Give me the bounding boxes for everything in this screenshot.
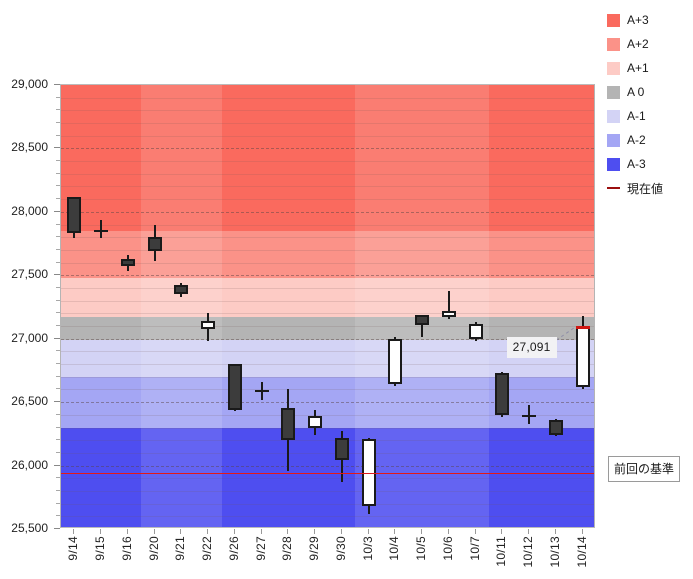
y-axis-tick-label: 29,000: [11, 77, 48, 91]
major-gridline: [61, 148, 594, 149]
x-axis-tick-mark: [261, 529, 262, 534]
legend-swatch-icon: [607, 86, 620, 99]
x-axis-tick-mark: [555, 529, 556, 534]
minor-gridline: [61, 110, 594, 111]
candle-body: [121, 259, 135, 267]
candle-body: [201, 321, 215, 329]
legend-item-label: 現在値: [627, 180, 663, 197]
minor-gridline: [61, 364, 594, 365]
x-axis-tick-label: 10/13: [548, 536, 562, 568]
minor-gridline: [61, 98, 594, 99]
legend-item[interactable]: A+3: [607, 8, 693, 32]
legend-item-label: A+2: [627, 37, 649, 51]
legend-swatch-icon: [607, 62, 620, 75]
candlestick[interactable]: [335, 85, 349, 528]
candle-body: [576, 327, 590, 387]
candle-body: [228, 364, 242, 410]
candlestick[interactable]: [442, 85, 456, 528]
legend-swatch-icon: [607, 110, 620, 123]
minor-gridline: [61, 263, 594, 264]
major-gridline: [61, 466, 594, 467]
minor-gridline: [61, 516, 594, 517]
plot-wrap: [60, 84, 595, 528]
x-axis-tick-mark: [448, 529, 449, 534]
legend-swatch-icon: [607, 134, 620, 147]
x-axis-tick-label: 9/22: [200, 536, 214, 561]
minor-gridline: [61, 326, 594, 327]
x-axis-tick-label: 9/28: [280, 536, 294, 561]
candlestick[interactable]: [148, 85, 162, 528]
legend-item[interactable]: A+1: [607, 56, 693, 80]
legend-item[interactable]: A-2: [607, 128, 693, 152]
x-axis-tick-label: 10/12: [521, 536, 535, 568]
candle-body: [335, 438, 349, 461]
candle-body: [415, 315, 429, 325]
legend-item-label: A-1: [627, 109, 646, 123]
minor-gridline: [61, 186, 594, 187]
minor-gridline: [61, 440, 594, 441]
candle-body: [469, 324, 483, 339]
minor-gridline: [61, 225, 594, 226]
candlestick[interactable]: [255, 85, 269, 528]
legend-item-label: A-2: [627, 133, 646, 147]
x-axis-tick-mark: [582, 529, 583, 534]
candlestick[interactable]: [94, 85, 108, 528]
candle-body: [549, 420, 563, 435]
candle-body: [442, 311, 456, 317]
x-axis-tick-label: 9/30: [334, 536, 348, 561]
legend-item-label: A+3: [627, 13, 649, 27]
current-value-marker: [576, 326, 590, 329]
major-gridline: [61, 212, 594, 213]
minor-gridline: [61, 174, 594, 175]
candlestick[interactable]: [281, 85, 295, 528]
x-axis-tick-label: 10/3: [361, 536, 375, 561]
x-axis-tick-label: 9/21: [173, 536, 187, 561]
minor-gridline: [61, 491, 594, 492]
candle-body: [522, 415, 536, 417]
previous-base-button[interactable]: 前回の基準: [608, 456, 680, 482]
legend-item[interactable]: A-1: [607, 104, 693, 128]
candlestick[interactable]: [121, 85, 135, 528]
candle-body: [495, 373, 509, 415]
minor-gridline: [61, 415, 594, 416]
x-axis-tick-label: 10/6: [441, 536, 455, 561]
x-axis-tick-mark: [154, 529, 155, 534]
y-axis-tick-label: 27,000: [11, 331, 48, 345]
x-axis-tick-label: 10/7: [468, 536, 482, 561]
price-annotation-label: 27,091: [507, 337, 557, 358]
previous-base-line: [61, 473, 594, 474]
x-axis-tick-mark: [368, 529, 369, 534]
legend-item-label: A+1: [627, 61, 649, 75]
minor-gridline: [61, 377, 594, 378]
x-axis-tick-label: 10/4: [387, 536, 401, 561]
x-axis-tick-mark: [475, 529, 476, 534]
candlestick[interactable]: [228, 85, 242, 528]
minor-gridline: [61, 478, 594, 479]
x-axis-tick-mark: [314, 529, 315, 534]
minor-gridline: [61, 389, 594, 390]
legend-item[interactable]: 現在値: [607, 176, 693, 200]
x-axis-tick-label: 9/26: [227, 536, 241, 561]
minor-gridline: [61, 313, 594, 314]
x-axis-tick-mark: [528, 529, 529, 534]
candlestick[interactable]: [576, 85, 590, 528]
y-axis-tick-label: 26,500: [11, 394, 48, 408]
x-axis-tick-mark: [234, 529, 235, 534]
legend-item-label: A 0: [627, 85, 644, 99]
minor-gridline: [61, 250, 594, 251]
candle-body: [67, 197, 81, 234]
x-axis-tick-mark: [207, 529, 208, 534]
candle-body: [255, 390, 269, 392]
x-axis-tick-mark: [73, 529, 74, 534]
major-gridline: [61, 275, 594, 276]
candlestick[interactable]: [308, 85, 322, 528]
y-axis-tick-label: 25,500: [11, 521, 48, 535]
y-axis-tick-label: 28,000: [11, 204, 48, 218]
candlestick[interactable]: [67, 85, 81, 528]
x-axis-tick-label: 10/14: [575, 536, 589, 568]
x-axis-tick-label: 9/29: [307, 536, 321, 561]
legend-swatch-icon: [607, 14, 620, 27]
x-axis-tick-label: 9/20: [147, 536, 161, 561]
candlestick[interactable]: [522, 85, 536, 528]
candlestick[interactable]: [415, 85, 429, 528]
x-axis-tick-mark: [287, 529, 288, 534]
y-axis: 25,50026,00026,50027,00027,50028,00028,5…: [0, 84, 60, 529]
legend-item[interactable]: A+2: [607, 32, 693, 56]
minor-gridline: [61, 453, 594, 454]
x-axis-tick-label: 9/15: [93, 536, 107, 561]
candlestick[interactable]: [201, 85, 215, 528]
candle-body: [148, 237, 162, 251]
candle-body: [94, 230, 108, 232]
minor-gridline: [61, 237, 594, 238]
price-band-a3: [61, 85, 594, 231]
x-axis-tick-mark: [180, 529, 181, 534]
minor-gridline: [61, 301, 594, 302]
x-axis-tick-mark: [341, 529, 342, 534]
x-axis-tick-mark: [127, 529, 128, 534]
x-axis-tick-label: 9/16: [120, 536, 134, 561]
minor-gridline: [61, 288, 594, 289]
legend: A+3A+2A+1A 0A-1A-2A-3現在値: [607, 8, 693, 200]
x-axis-tick-label: 10/11: [494, 536, 508, 567]
legend-line-icon: [607, 187, 620, 189]
candle-body: [388, 339, 402, 385]
candle-body: [174, 285, 188, 295]
major-gridline: [61, 402, 594, 403]
x-axis-tick-label: 9/27: [254, 536, 268, 561]
candlestick[interactable]: [362, 85, 376, 528]
minor-gridline: [61, 123, 594, 124]
minor-gridline: [61, 161, 594, 162]
y-axis-tick-label: 26,000: [11, 458, 48, 472]
minor-gridline: [61, 504, 594, 505]
candlestick[interactable]: [495, 85, 509, 528]
x-axis-tick-mark: [100, 529, 101, 534]
x-axis-tick-label: 9/14: [66, 536, 80, 561]
x-axis-tick-mark: [421, 529, 422, 534]
y-axis-tick-label: 27,500: [11, 267, 48, 281]
x-axis-tick-mark: [501, 529, 502, 534]
x-axis-tick-label: 10/5: [414, 536, 428, 561]
x-axis-tick-mark: [394, 529, 395, 534]
price-band-a1: [61, 278, 594, 317]
legend-swatch-icon: [607, 38, 620, 51]
legend-swatch-icon: [607, 158, 620, 171]
minor-gridline: [61, 428, 594, 429]
y-axis-tick-label: 28,500: [11, 140, 48, 154]
plot-area: [60, 84, 595, 528]
minor-gridline: [61, 136, 594, 137]
candlestick[interactable]: [388, 85, 402, 528]
candlestick[interactable]: [549, 85, 563, 528]
legend-item-label: A-3: [627, 157, 646, 171]
x-axis: 9/149/159/169/209/219/229/269/279/289/29…: [60, 529, 595, 579]
candlestick[interactable]: [469, 85, 483, 528]
legend-item[interactable]: A 0: [607, 80, 693, 104]
candlestick[interactable]: [174, 85, 188, 528]
legend-item[interactable]: A-3: [607, 152, 693, 176]
candle-body: [281, 408, 295, 440]
chart-root: 25,50026,00026,50027,00027,50028,00028,5…: [0, 0, 693, 579]
minor-gridline: [61, 199, 594, 200]
candle-body: [308, 416, 322, 427]
